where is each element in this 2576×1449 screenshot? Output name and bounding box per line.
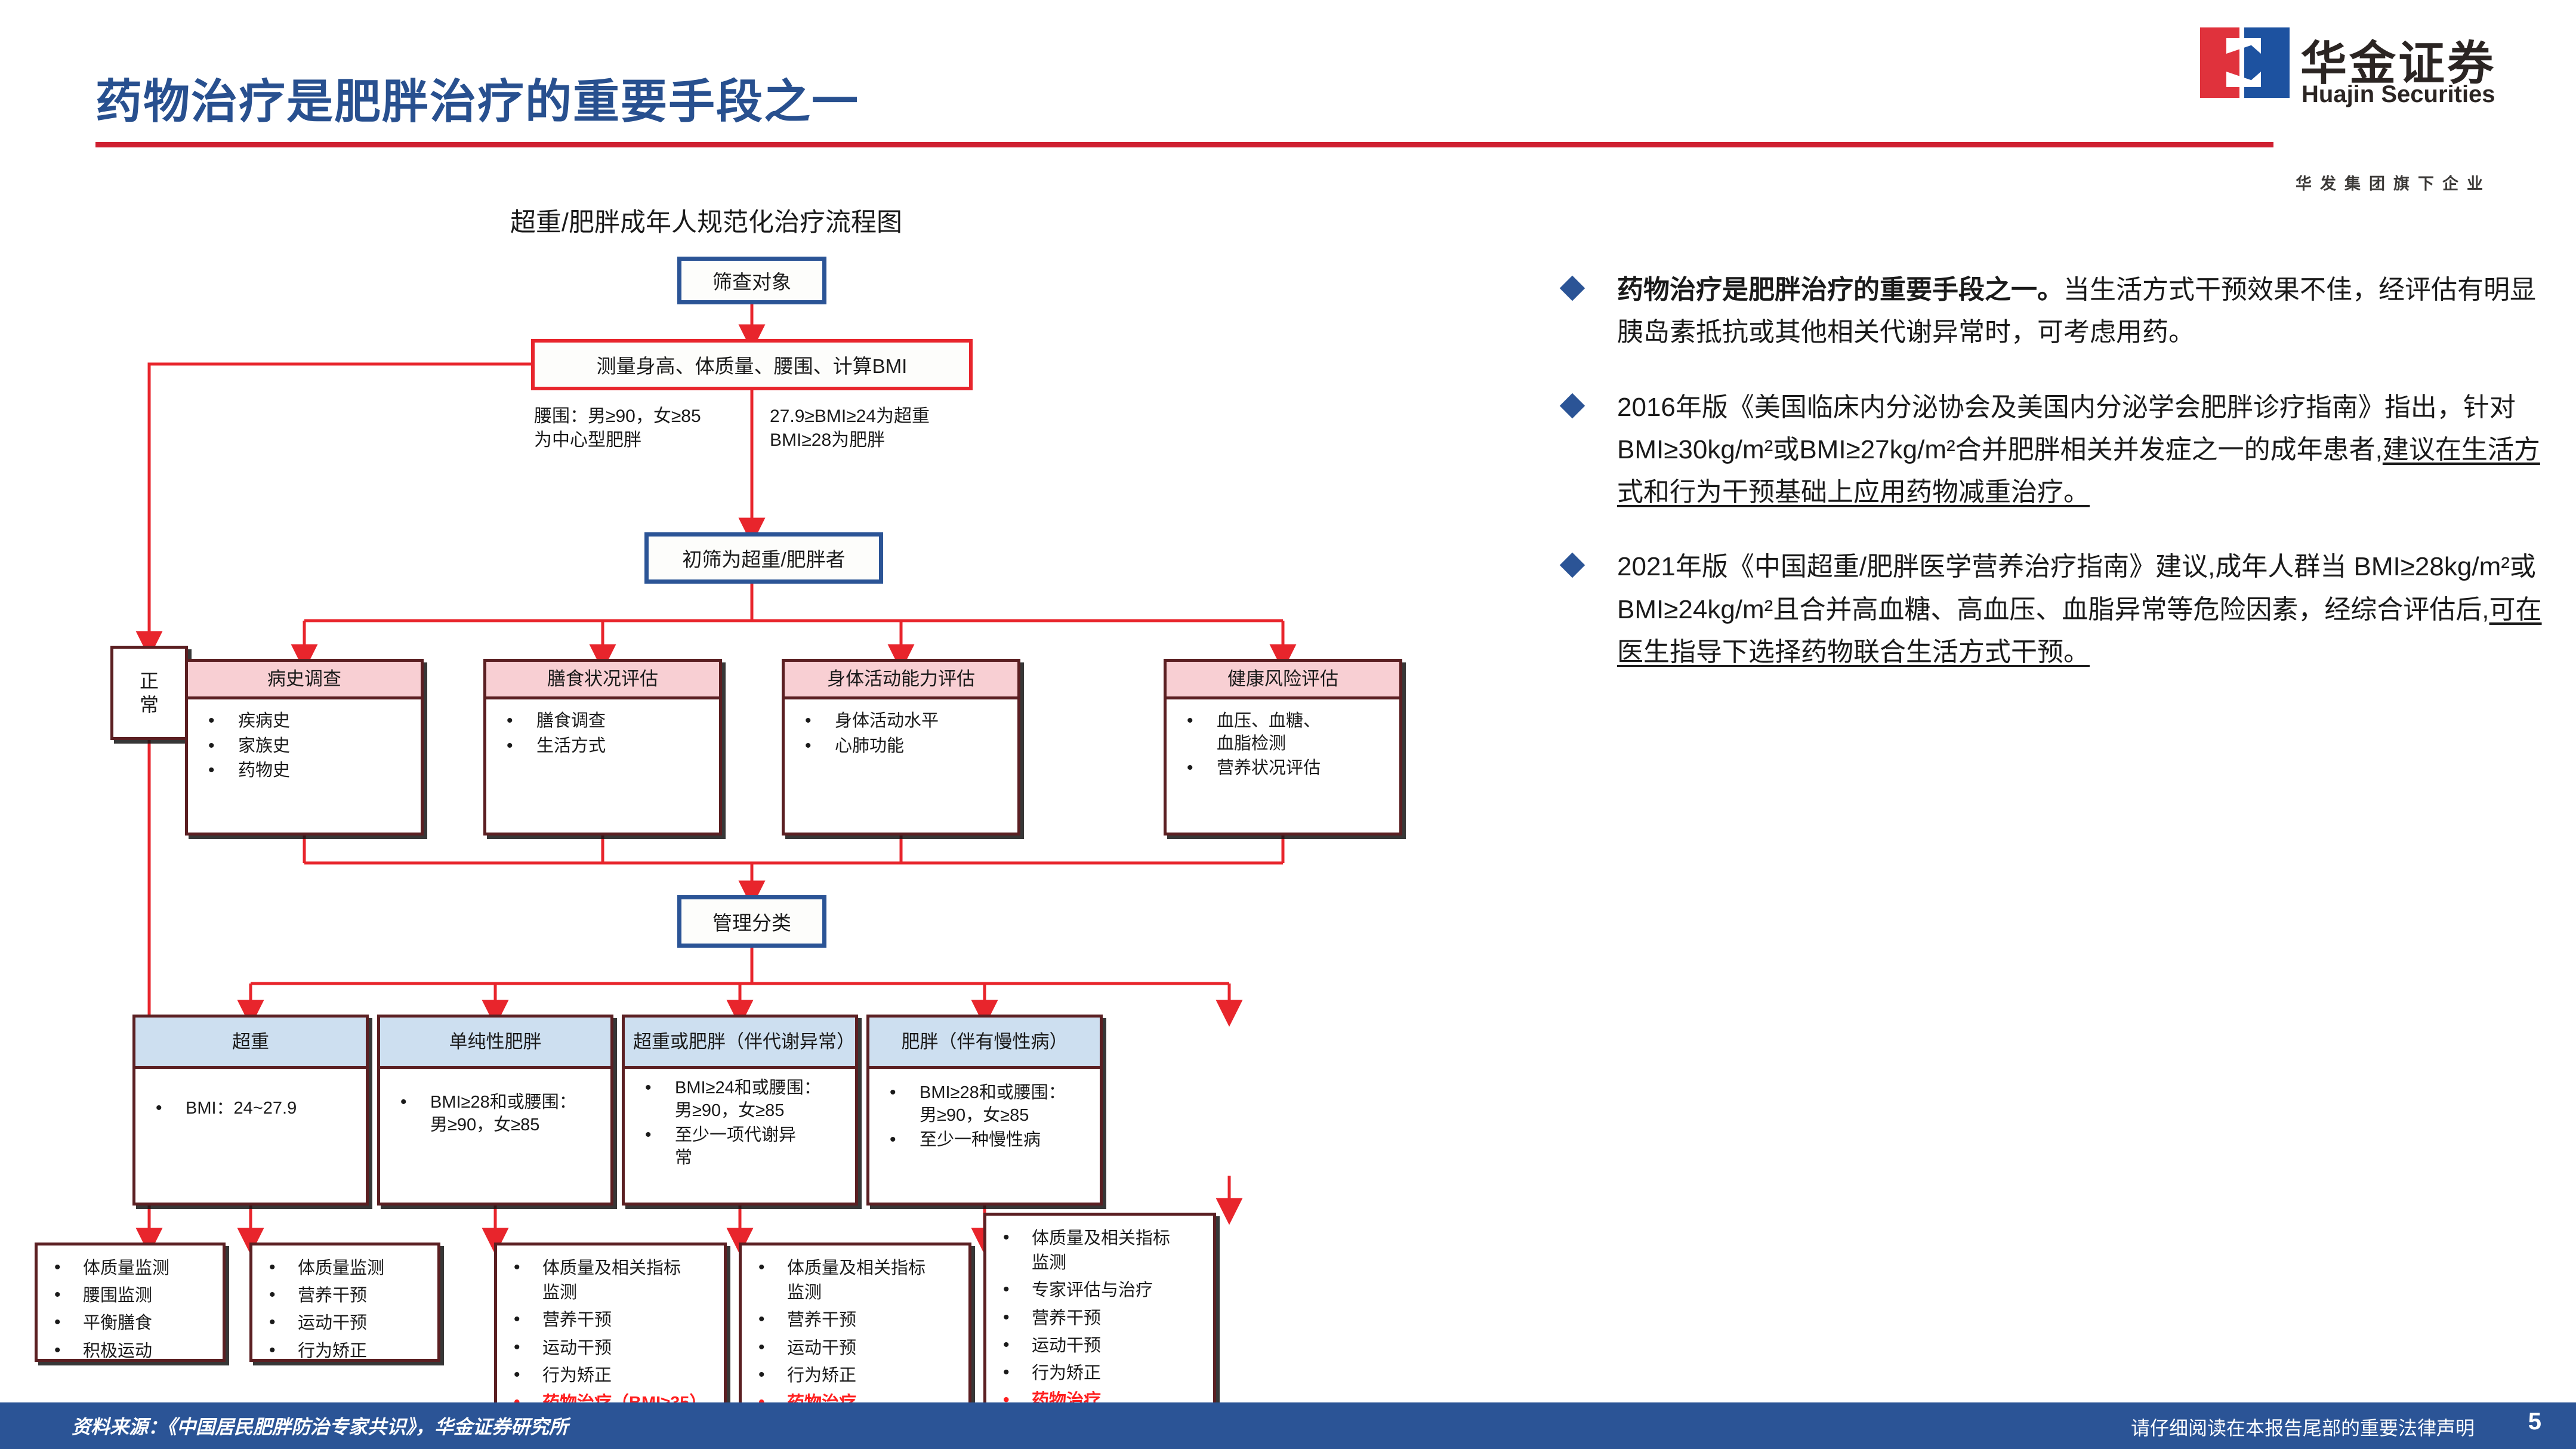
list-item: 营养状况评估 [1182, 757, 1392, 780]
node-label: 筛查对象 [712, 266, 791, 295]
flowchart-caption: 超重/肥胖成年人规范化治疗流程图 [510, 202, 902, 239]
list-item: 腰围监测 [50, 1284, 215, 1308]
logo-tagline: 华发集团旗下企业 [2296, 171, 2491, 194]
list-item: 生活方式 [502, 735, 712, 758]
criteria-waist-line1: 腰围：男≥90，女≥85 [534, 405, 701, 428]
classification-card-header: 肥胖（伴有慢性病） [869, 1018, 1100, 1069]
classification-card-body: BMI≥28和或腰围：男≥90，女≥85 至少一种慢性病 [869, 1069, 1100, 1165]
list-item: 运动干预 [264, 1311, 430, 1336]
classification-card-1[interactable]: 单纯性肥胖 BMI≥28和或腰围：男≥90，女≥85 [377, 1015, 613, 1206]
classification-card-body: BMI≥28和或腰围：男≥90，女≥85 [380, 1069, 610, 1149]
page-number: 5 [2528, 1408, 2541, 1435]
list-item: 行为矫正 [998, 1361, 1206, 1386]
assessment-card-body: 膳食调查 生活方式 [486, 699, 719, 770]
list-item: BMI≥28和或腰围：男≥90，女≥85 [885, 1082, 1093, 1127]
list-item: BMI≥24和或腰围：男≥90，女≥85 [640, 1077, 848, 1122]
list-item: 心肺功能 [800, 735, 1010, 758]
node-label: 测量身高、体质量、腰围、计算BMI [597, 350, 908, 379]
logo-name-en: Huajin Securities [2302, 81, 2495, 108]
assessment-card-header: 身体活动能力评估 [785, 662, 1017, 699]
list-item: 膳食调查 [502, 710, 712, 733]
diamond-bullet-icon [1560, 553, 1585, 578]
criteria-bmi: 27.9≥BMI≥24为超重 BMI≥28为肥胖 [770, 405, 930, 452]
list-item: 积极运动 [50, 1339, 215, 1364]
treatment-card-3[interactable]: 体质量及相关指标监测 营养干预 运动干预 行为矫正 药物治疗 [739, 1243, 971, 1408]
classification-card-0[interactable]: 超重 BMI：24~27.9 [132, 1015, 369, 1206]
node-label: 管理分类 [712, 907, 791, 936]
assessment-card-body: 身体活动水平 心肺功能 [785, 699, 1017, 770]
list-item: 疾病史 [203, 710, 414, 733]
list-item: 体质量监测 [50, 1256, 215, 1281]
list-item: 血压、血糖、血脂检测 [1182, 710, 1392, 755]
title-divider [95, 142, 2273, 147]
bullet-item-2: 2021年版《中国超重/肥胖医学营养治疗指南》建议,成年人群当 BMI≥28kg… [1528, 545, 2542, 673]
bullet-item-1: 2016年版《美国临床内分泌协会及美国内分泌学会肥胖诊疗指南》指出，针对BMI≥… [1528, 386, 2542, 514]
list-item: 营养干预 [998, 1306, 1206, 1331]
diamond-bullet-icon [1560, 276, 1585, 301]
assessment-card-0[interactable]: 病史调查 疾病史 家族史 药物史 [185, 659, 424, 836]
bullet-lead: 药物治疗是肥胖治疗的重要手段之一。 [1617, 275, 2063, 304]
node-measure[interactable]: 测量身高、体质量、腰围、计算BMI [531, 339, 973, 390]
list-item: 家族史 [203, 735, 414, 758]
node-label: 初筛为超重/肥胖者 [682, 544, 845, 572]
list-item: BMI≥28和或腰围：男≥90，女≥85 [396, 1092, 603, 1136]
assessment-card-1[interactable]: 膳食状况评估 膳食调查 生活方式 [483, 659, 722, 836]
bullet-rest: 2021年版《中国超重/肥胖医学营养治疗指南》建议,成年人群当 BMI≥28kg… [1617, 552, 2536, 624]
criteria-bmi-line2: BMI≥28为肥胖 [770, 428, 930, 452]
footer-disclaimer: 请仔细阅读在本报告尾部的重要法律声明 [2131, 1413, 2475, 1441]
assessment-card-body: 疾病史 家族史 药物史 [188, 699, 421, 796]
list-item: 运动干预 [509, 1336, 717, 1361]
list-item: 行为矫正 [509, 1364, 717, 1388]
classification-card-3[interactable]: 肥胖（伴有慢性病） BMI≥28和或腰围：男≥90，女≥85 至少一种慢性病 [866, 1015, 1103, 1206]
diamond-bullet-icon [1560, 393, 1585, 418]
list-item: 体质量监测 [264, 1256, 430, 1281]
list-item: 体质量及相关指标监测 [998, 1226, 1206, 1275]
list-item: 体质量及相关指标监测 [754, 1256, 961, 1305]
node-management-classification[interactable]: 管理分类 [677, 895, 826, 948]
classification-card-2[interactable]: 超重或肥胖（伴代谢异常） BMI≥24和或腰围：男≥90，女≥85 至少一项代谢… [622, 1015, 858, 1206]
page-title: 药物治疗是肥胖治疗的重要手段之一 [95, 64, 859, 131]
node-initial-screening-result[interactable]: 初筛为超重/肥胖者 [644, 532, 883, 584]
criteria-waist-line2: 为中心型肥胖 [534, 428, 701, 452]
classification-card-body: BMI≥24和或腰围：男≥90，女≥85 至少一项代谢异常 [625, 1069, 855, 1183]
logo-blue-block [2244, 27, 2290, 98]
brand-logo: 华金证券 Huajin Securities 华发集团旗下企业 [2200, 17, 2558, 136]
bullet-text: 2021年版《中国超重/肥胖医学营养治疗指南》建议,成年人群当 BMI≥28kg… [1617, 545, 2542, 673]
logo-red-block [2200, 27, 2239, 98]
list-item: 行为矫正 [264, 1339, 430, 1364]
list-item: 运动干预 [998, 1334, 1206, 1358]
list-item: 身体活动水平 [800, 710, 1010, 733]
list-item: 运动干预 [754, 1336, 961, 1361]
list-item: BMI：24~27.9 [151, 1097, 359, 1120]
assessment-card-header: 病史调查 [188, 662, 421, 699]
list-item: 营养干预 [754, 1308, 961, 1333]
bullet-text: 药物治疗是肥胖治疗的重要手段之一。当生活方式干预效果不佳，经评估有明显胰岛素抵抗… [1617, 269, 2542, 354]
list-item: 行为矫正 [754, 1364, 961, 1388]
list-item: 专家评估与治疗 [998, 1278, 1206, 1303]
key-points-panel: 药物治疗是肥胖治疗的重要手段之一。当生活方式干预效果不佳，经评估有明显胰岛素抵抗… [1528, 269, 2542, 705]
bullet-rest: 2016年版《美国临床内分泌协会及美国内分泌学会肥胖诊疗指南》指出，针对BMI≥… [1617, 393, 2516, 464]
list-item: 药物史 [203, 760, 414, 782]
list-item: 至少一种慢性病 [885, 1129, 1093, 1152]
node-screening-subject[interactable]: 筛查对象 [677, 257, 826, 304]
classification-card-body: BMI：24~27.9 [135, 1069, 366, 1133]
assessment-card-header: 膳食状况评估 [486, 662, 719, 699]
assessment-card-2[interactable]: 身体活动能力评估 身体活动水平 心肺功能 [782, 659, 1020, 836]
assessment-card-header: 健康风险评估 [1167, 662, 1399, 699]
node-label: 正常 [140, 669, 159, 717]
treatment-card-0[interactable]: 体质量监测 腰围监测 平衡膳食 积极运动 [35, 1243, 226, 1362]
assessment-card-body: 血压、血糖、血脂检测 营养状况评估 [1167, 699, 1399, 793]
treatment-card-4[interactable]: 体质量及相关指标监测 专家评估与治疗 营养干预 运动干预 行为矫正 药物治疗 手… [983, 1213, 1216, 1408]
criteria-waist: 腰围：男≥90，女≥85 为中心型肥胖 [534, 405, 701, 452]
node-normal[interactable]: 正常 [110, 646, 188, 740]
assessment-card-3[interactable]: 健康风险评估 血压、血糖、血脂检测 营养状况评估 [1164, 659, 1402, 836]
bullet-item-0: 药物治疗是肥胖治疗的重要手段之一。当生活方式干预效果不佳，经评估有明显胰岛素抵抗… [1528, 269, 2542, 354]
treatment-card-1[interactable]: 体质量监测 营养干预 运动干预 行为矫正 [249, 1243, 440, 1362]
classification-card-header: 超重 [135, 1018, 366, 1069]
treatment-flowchart: 筛查对象 测量身高、体质量、腰围、计算BMI 腰围：男≥90，女≥85 为中心型… [0, 239, 1504, 1373]
list-item: 平衡膳食 [50, 1311, 215, 1336]
list-item: 至少一项代谢异常 [640, 1124, 848, 1169]
slide-footer: 资料来源：《中国居民肥胖防治专家共识》，华金证券研究所 请仔细阅读在本报告尾部的… [0, 1402, 2576, 1449]
list-item: 体质量及相关指标监测 [509, 1256, 717, 1305]
criteria-bmi-line1: 27.9≥BMI≥24为超重 [770, 405, 930, 428]
list-item: 营养干预 [264, 1284, 430, 1308]
classification-card-header: 单纯性肥胖 [380, 1018, 610, 1069]
footer-source: 资料来源：《中国居民肥胖防治专家共识》，华金证券研究所 [72, 1412, 568, 1439]
classification-card-header: 超重或肥胖（伴代谢异常） [625, 1018, 855, 1069]
slide-header: 药物治疗是肥胖治疗的重要手段之一 华金证券 Huajin Securities … [0, 0, 2576, 149]
treatment-card-2[interactable]: 体质量及相关指标监测 营养干预 运动干预 行为矫正 药物治疗（BMI≥35） [494, 1243, 727, 1408]
huajin-logo-mark [2200, 27, 2290, 98]
list-item: 营养干预 [509, 1308, 717, 1333]
bullet-text: 2016年版《美国临床内分泌协会及美国内分泌学会肥胖诊疗指南》指出，针对BMI≥… [1617, 386, 2542, 514]
